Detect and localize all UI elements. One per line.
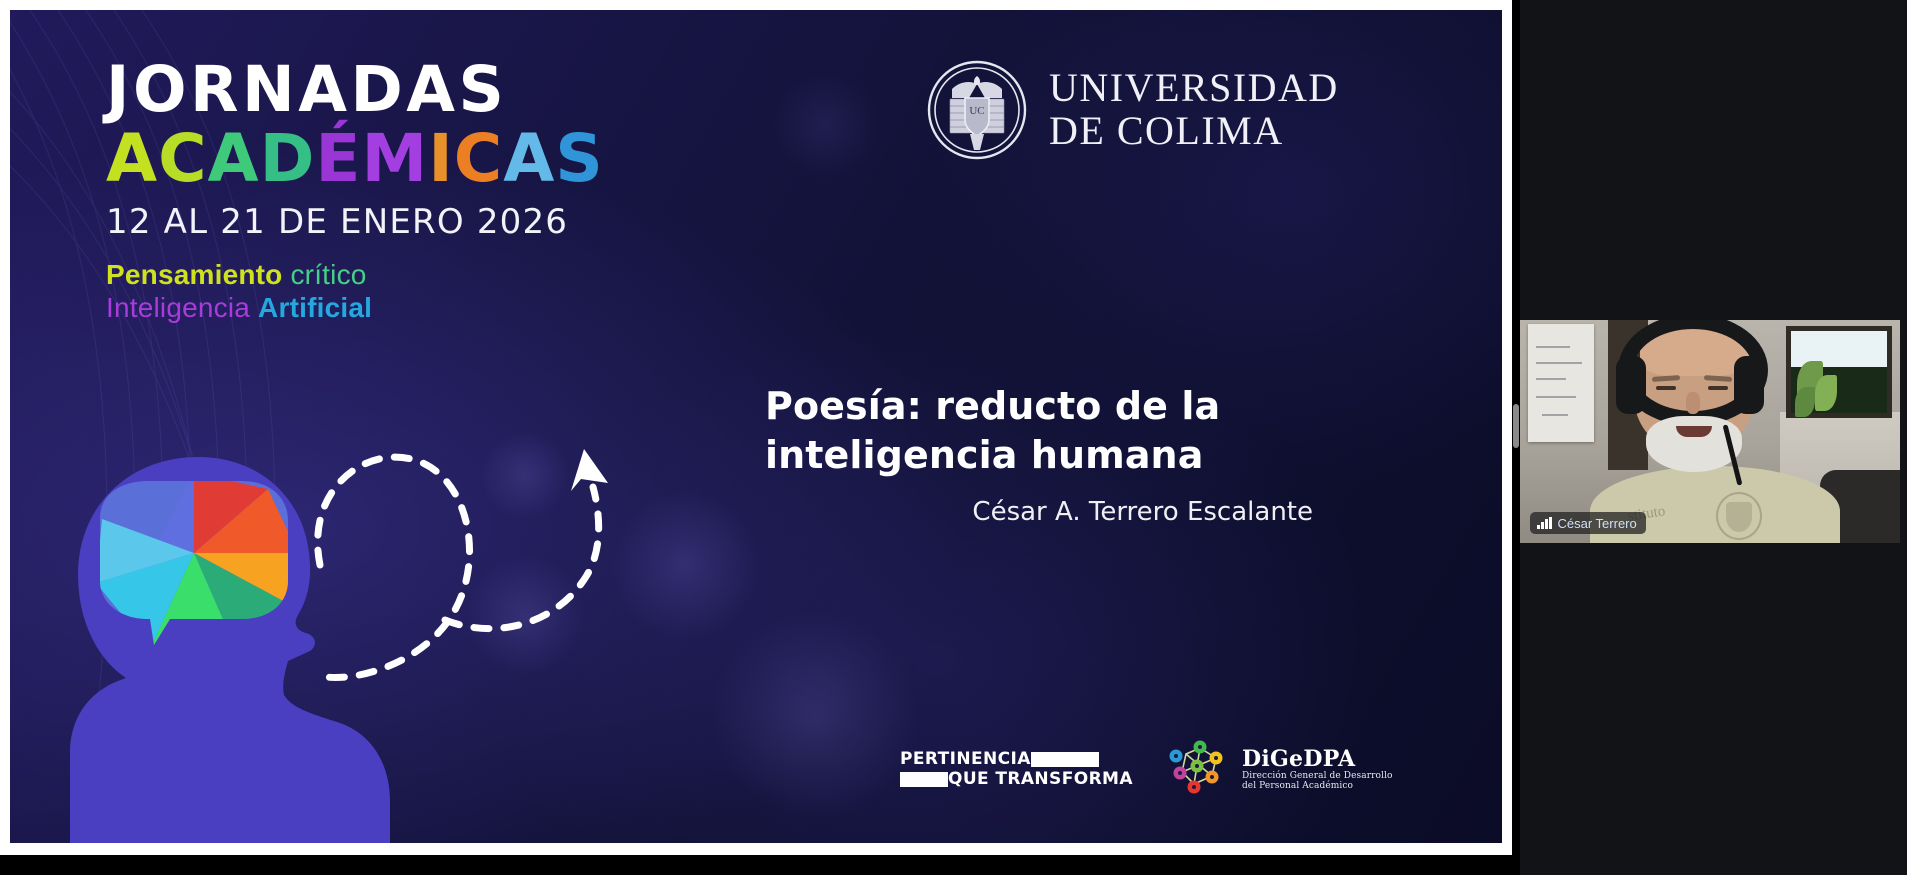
shared-screen-scrollbar[interactable] [1513, 404, 1519, 448]
meeting-screen: JORNADAS ACADÉMICAS 12 AL 21 DE ENERO 20… [0, 0, 1907, 875]
academicas-letter-0: A [106, 124, 158, 194]
pertinencia-row-1: PERTINENCIA [900, 751, 1133, 768]
universidad-de-colima-logo: UC UNIVERSIDAD DE COLIMA [925, 58, 1339, 162]
academicas-letter-3: D [260, 124, 316, 194]
academicas-letter-7: C [454, 124, 503, 194]
academicas-letter-5: M [362, 124, 429, 194]
slide-author: César A. Terrero Escalante [765, 497, 1325, 527]
slide-title: Poesía: reducto de la inteligencia human… [765, 382, 1325, 481]
participant-name-badge: César Terrero [1530, 512, 1646, 534]
logo-line-academicas: ACADÉMICAS [106, 124, 666, 194]
shared-screen-region[interactable]: JORNADAS ACADÉMICAS 12 AL 21 DE ENERO 20… [0, 0, 1512, 855]
dashed-looping-arrow-icon [295, 435, 645, 705]
digedpa-logo: DiGeDPA Dirección General de Desarrollo … [1168, 738, 1393, 800]
video-mouth [1676, 426, 1712, 437]
bokeh-decoration [770, 70, 880, 180]
academicas-letter-1: C [158, 124, 207, 194]
tagline-artificial: Artificial [258, 292, 372, 323]
video-nose [1686, 392, 1700, 414]
event-dates: 12 AL 21 DE ENERO 2026 [106, 202, 666, 242]
tagline-second-line: Inteligencia Artificial [106, 291, 666, 324]
pertinencia-bar-right [1031, 752, 1099, 767]
university-name: UNIVERSIDAD DE COLIMA [1049, 68, 1339, 152]
academicas-letter-9: S [555, 124, 604, 194]
academicas-letter-6: I [428, 124, 454, 194]
video-headset-earcup-left [1616, 356, 1646, 414]
video-window [1786, 326, 1892, 418]
jornadas-academicas-logo: JORNADAS ACADÉMICAS 12 AL 21 DE ENERO 20… [106, 58, 666, 324]
video-headset-earcup-right [1734, 356, 1764, 414]
tagline-pensamiento: Pensamiento [106, 259, 282, 290]
video-eye-left [1656, 386, 1676, 390]
tagline-first-line: Pensamiento crítico [106, 258, 666, 291]
university-name-line2: DE COLIMA [1049, 111, 1339, 152]
pertinencia-que-transforma-logo: PERTINENCIA QUE TRANSFORMA [900, 751, 1133, 788]
presentation-slide[interactable]: JORNADAS ACADÉMICAS 12 AL 21 DE ENERO 20… [10, 10, 1502, 843]
video-wall-poster [1528, 324, 1594, 442]
footer-logos: PERTINENCIA QUE TRANSFORMA [900, 738, 1393, 800]
video-eye-right [1708, 386, 1728, 390]
digedpa-text-block: DiGeDPA Dirección General de Desarrollo … [1242, 747, 1393, 792]
digedpa-subtitle-line2: del Personal Académico [1242, 781, 1393, 791]
que-transforma-label: QUE TRANSFORMA [948, 771, 1133, 788]
tagline-inteligencia: Inteligencia [106, 292, 250, 323]
tagline-critico: crítico [290, 259, 366, 290]
academicas-letter-2: A [208, 124, 260, 194]
pertinencia-row-2: QUE TRANSFORMA [900, 771, 1133, 788]
universidad-de-colima-seal-icon: UC [925, 58, 1029, 162]
slide-title-block: Poesía: reducto de la inteligencia human… [765, 382, 1325, 527]
university-name-line1: UNIVERSIDAD [1049, 68, 1339, 109]
digedpa-network-icon [1168, 738, 1232, 800]
academicas-letter-8: A [503, 124, 555, 194]
svg-text:UC: UC [969, 105, 984, 117]
academicas-letter-4: É [315, 124, 361, 194]
bokeh-decoration [710, 610, 920, 820]
signal-bars-icon [1537, 517, 1552, 529]
participant-video-tile[interactable]: stituto César Terrero [1520, 320, 1900, 543]
participant-name-label: César Terrero [1558, 516, 1637, 531]
digedpa-subtitle-line1: Dirección General de Desarrollo [1242, 771, 1393, 781]
pertinencia-label: PERTINENCIA [900, 751, 1031, 768]
video-shirt-crest-inner [1726, 502, 1752, 532]
logo-line-jornadas: JORNADAS [106, 58, 666, 122]
pertinencia-bar-left [900, 772, 948, 787]
digedpa-name: DiGeDPA [1242, 747, 1393, 772]
